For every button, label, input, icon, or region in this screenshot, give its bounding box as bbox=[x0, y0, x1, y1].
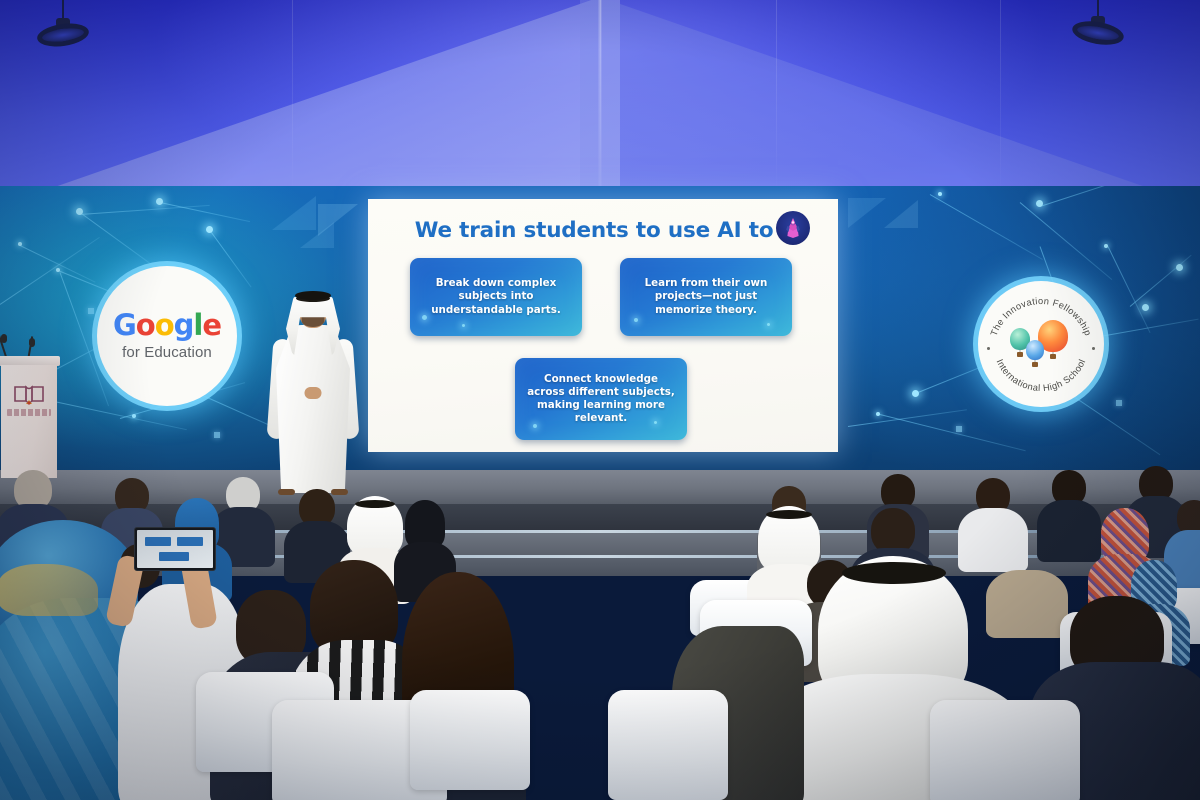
slide-card-3-text: Connect knowledge across different subje… bbox=[525, 373, 677, 426]
chair bbox=[410, 690, 530, 790]
sparkle bbox=[422, 315, 427, 320]
network-node bbox=[18, 242, 22, 246]
hijab bbox=[405, 500, 445, 548]
shawl-gold-trim bbox=[0, 564, 98, 616]
slide-card-3: Connect knowledge across different subje… bbox=[515, 358, 687, 440]
innovation-fellowship-logo: The Innovation Fellowship International … bbox=[978, 281, 1104, 407]
slide-card-2-text: Learn from their own projects—not just m… bbox=[630, 277, 782, 317]
lectern bbox=[0, 356, 60, 478]
decor-triangle bbox=[884, 200, 918, 228]
balloon-basket bbox=[1017, 352, 1023, 357]
phone-screen-card bbox=[145, 537, 171, 546]
agal bbox=[842, 562, 946, 584]
phone-screen-card bbox=[177, 537, 203, 546]
network-node bbox=[1036, 200, 1043, 207]
microphone-head bbox=[29, 338, 35, 347]
google-for-education-logo: Google for Education bbox=[97, 266, 237, 406]
chair bbox=[930, 700, 1080, 800]
ifs-separator-dot bbox=[1092, 347, 1095, 350]
network-node bbox=[76, 208, 83, 215]
slide-title: We train students to use AI to – bbox=[368, 218, 838, 243]
sparkle bbox=[462, 324, 465, 327]
chair bbox=[608, 690, 728, 800]
sparkle bbox=[654, 421, 657, 424]
network-square bbox=[88, 308, 94, 314]
balloon-basket bbox=[1032, 362, 1038, 367]
network-node bbox=[132, 414, 136, 418]
presenter-on-stage bbox=[264, 281, 362, 493]
google-letter-o1: o bbox=[136, 308, 155, 342]
sparkle bbox=[634, 318, 638, 322]
pendant-wire bbox=[62, 0, 64, 20]
open-book-emblem bbox=[12, 381, 46, 407]
network-node bbox=[206, 226, 213, 233]
balloon-blue bbox=[1026, 340, 1044, 360]
network-node bbox=[938, 192, 942, 196]
google-letter-o2: o bbox=[155, 308, 174, 342]
smartphone[interactable] bbox=[134, 527, 216, 571]
lectern-body bbox=[1, 365, 57, 478]
sparkle bbox=[767, 323, 770, 326]
decor-triangle bbox=[300, 222, 334, 248]
ifs-separator-dot bbox=[987, 347, 990, 350]
balloon-basket bbox=[1050, 354, 1056, 359]
phone-screen-card bbox=[159, 552, 189, 561]
presenter-kandura bbox=[276, 325, 350, 493]
network-node bbox=[876, 412, 880, 416]
agal bbox=[766, 510, 812, 519]
ceiling-seam bbox=[776, 0, 777, 195]
slide-card-2: Learn from their own projects—not just m… bbox=[620, 258, 792, 336]
google-wordmark: Google bbox=[113, 311, 221, 340]
network-node bbox=[1142, 304, 1149, 311]
tent-ceiling bbox=[0, 0, 1200, 195]
sparkle bbox=[533, 424, 537, 428]
google-letter-g: g bbox=[174, 308, 194, 342]
ceiling-seam bbox=[600, 0, 601, 195]
slide-card-1: Break down complex subjects into underst… bbox=[410, 258, 582, 336]
phone-screen bbox=[137, 530, 213, 568]
network-node bbox=[156, 198, 163, 205]
network-node bbox=[1176, 264, 1183, 271]
presenter-agal bbox=[295, 291, 331, 300]
network-node bbox=[56, 268, 60, 272]
network-node bbox=[912, 390, 919, 397]
conference-stage-scene: Google for Education The Innovation Fell… bbox=[0, 0, 1200, 800]
google-letter-G: G bbox=[113, 308, 136, 342]
decor-triangle bbox=[848, 198, 886, 228]
presentation-slide: We train students to use AI to – Break d… bbox=[368, 199, 838, 452]
lectern-text-block bbox=[7, 409, 51, 416]
network-node bbox=[1104, 244, 1108, 248]
rocket-emblem-svg bbox=[780, 215, 806, 241]
google-letter-e: e bbox=[202, 308, 221, 342]
hot-air-balloons-emblem bbox=[1004, 316, 1078, 372]
network-square bbox=[956, 426, 962, 432]
ceiling-seam bbox=[1000, 0, 1001, 195]
ceiling-seam bbox=[292, 0, 293, 195]
agal bbox=[355, 500, 395, 508]
google-badge-subtitle: for Education bbox=[122, 344, 212, 361]
microphone-head bbox=[1, 334, 7, 343]
network-square bbox=[1116, 400, 1122, 406]
network-square bbox=[214, 432, 220, 438]
slide-card-1-text: Break down complex subjects into underst… bbox=[420, 277, 572, 317]
rocket-emblem-icon bbox=[776, 211, 810, 245]
presenter-hands bbox=[305, 387, 322, 399]
